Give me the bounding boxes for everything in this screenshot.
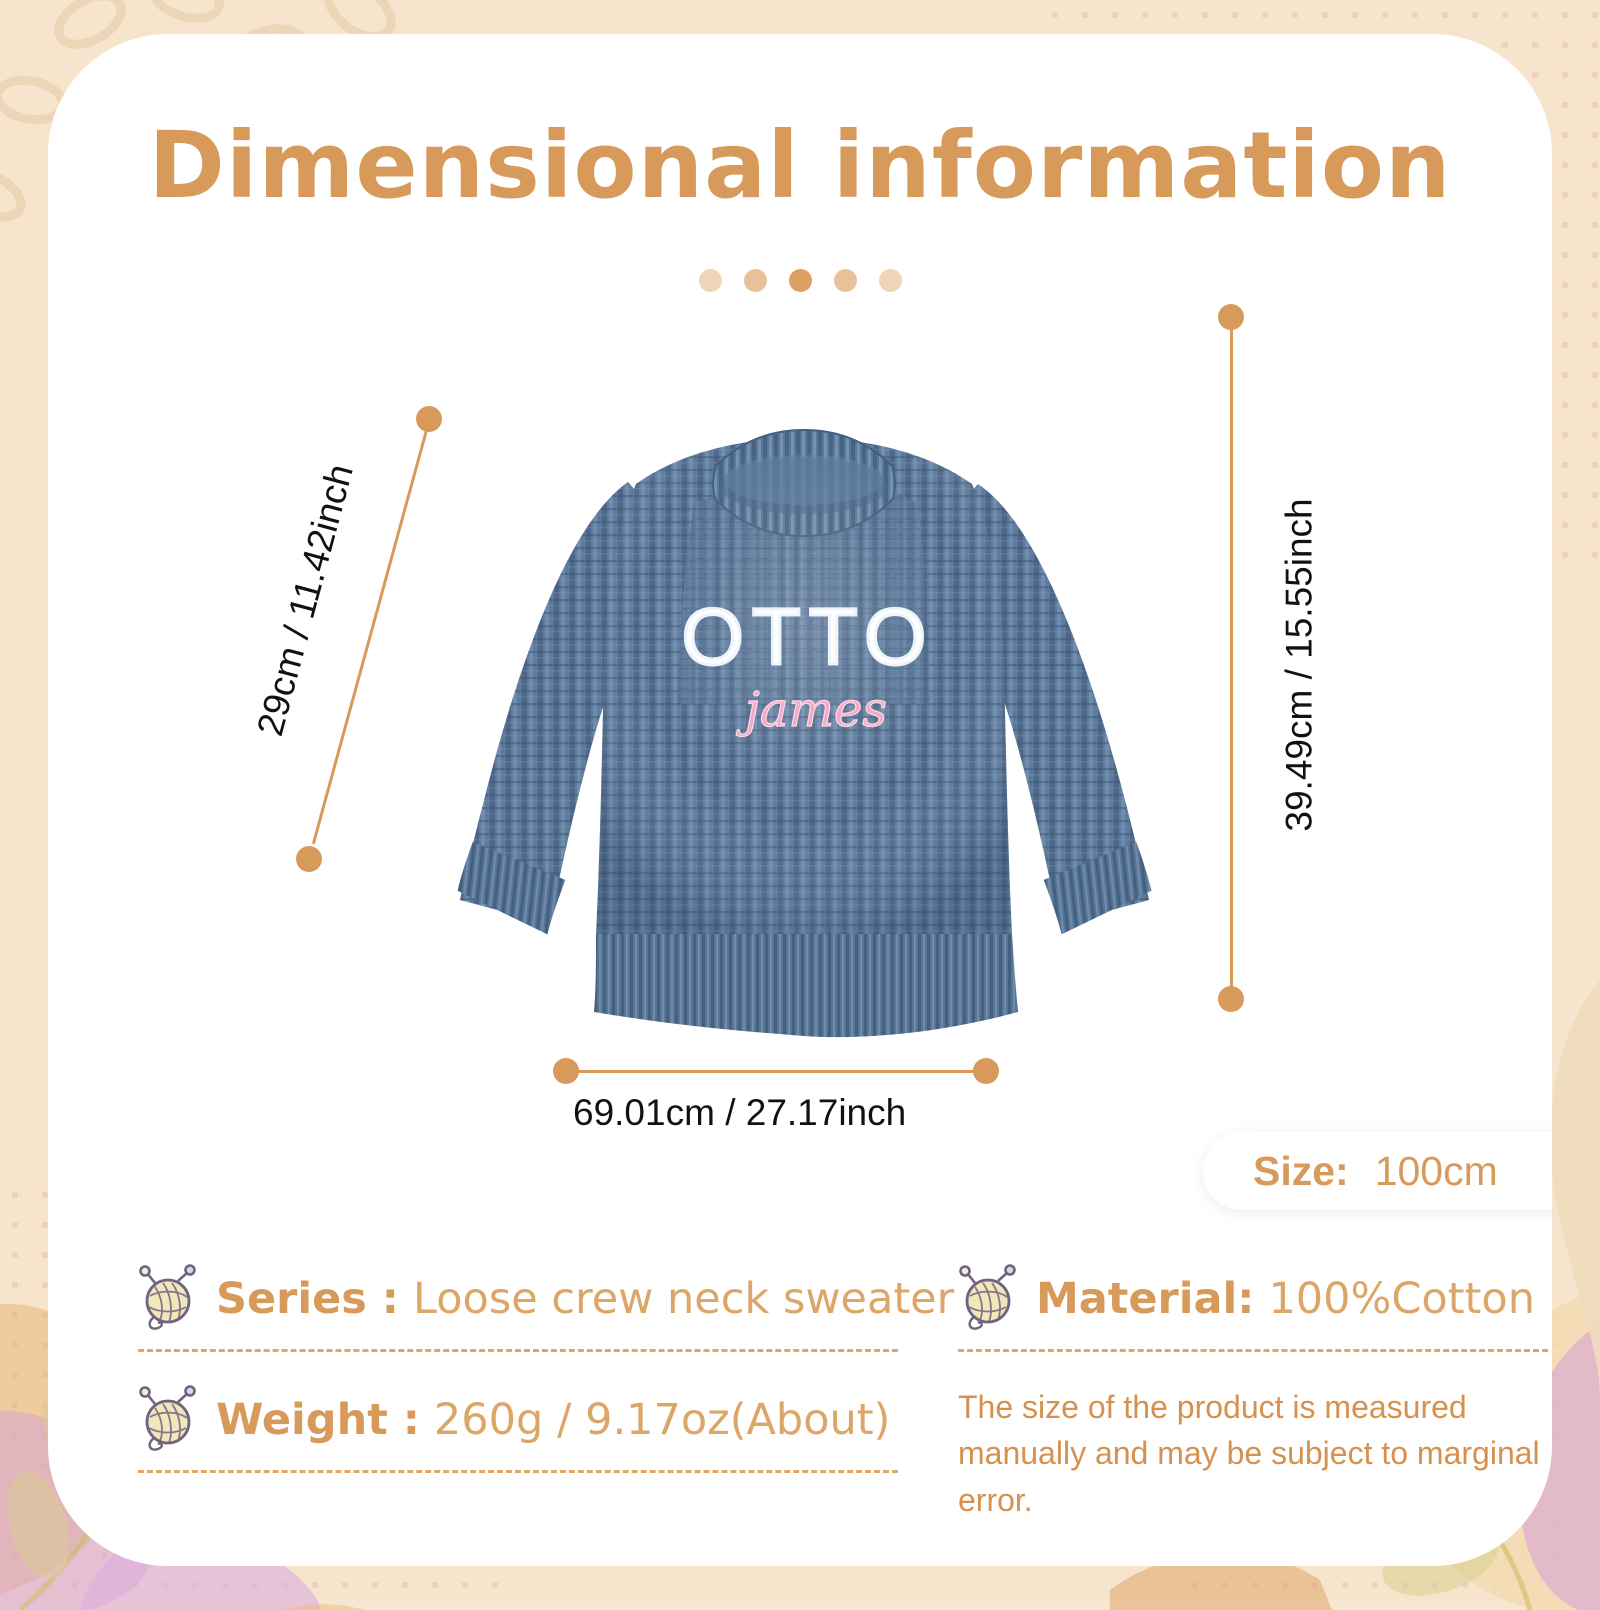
measurement-note-text: The size of the product is measured manu… [958,1370,1548,1523]
weight-value: 260g / 9.17oz(About) [434,1395,891,1445]
main-card: Dimensional information [48,34,1552,1566]
dimension-label-width: 69.01cm / 27.17inch [573,1092,906,1134]
yarn-ball-icon [138,1263,200,1335]
info-row-bottom: Weight : 260g / 9.17oz(About) The size o… [138,1370,1548,1523]
series-value: Loose crew neck sweater [413,1274,954,1324]
page-title: Dimensional information [48,112,1552,219]
size-value: 100cm [1375,1148,1498,1195]
series-label: Series : [216,1274,399,1324]
dim-line [566,1070,986,1073]
decor-dot [699,269,722,292]
info-item-weight: Weight : 260g / 9.17oz(About) [138,1370,958,1523]
info-item-series: Series : Loose crew neck sweater [138,1249,958,1352]
sweater-image: OTTO james [378,334,1238,1064]
decor-dot [834,269,857,292]
embroidery-name: OTTO [682,592,935,681]
info-divider [138,1470,898,1473]
info-row-top: Series : Loose crew neck sweater [138,1249,1548,1352]
dim-endpoint-dot [296,846,322,872]
info-divider [958,1349,1548,1352]
weight-label: Weight : [216,1395,420,1445]
dimension-label-sleeve: 29cm / 11.42inch [249,460,362,740]
yarn-ball-icon [958,1263,1020,1335]
yarn-ball-icon [138,1384,200,1456]
material-label: Material: [1036,1274,1254,1324]
decor-dot [744,269,767,292]
size-label: Size: [1253,1148,1349,1195]
title-decor-dots [48,269,1552,292]
info-divider [138,1349,898,1352]
decor-dot [879,269,902,292]
sweater-illustration: OTTO james [378,334,1238,1064]
material-value: 100%Cotton [1268,1274,1535,1324]
info-item-material: Material: 100%Cotton [958,1249,1548,1352]
size-badge: Size: 100cm [1203,1132,1552,1210]
product-info-section: Series : Loose crew neck sweater [138,1249,1548,1523]
embroidery-middle-name: james [736,682,887,738]
dim-line [1230,317,1233,999]
dimension-label-length: 39.49cm / 15.55inch [1279,498,1321,831]
measurement-note: The size of the product is measured manu… [958,1370,1548,1523]
decor-dot [789,269,812,292]
